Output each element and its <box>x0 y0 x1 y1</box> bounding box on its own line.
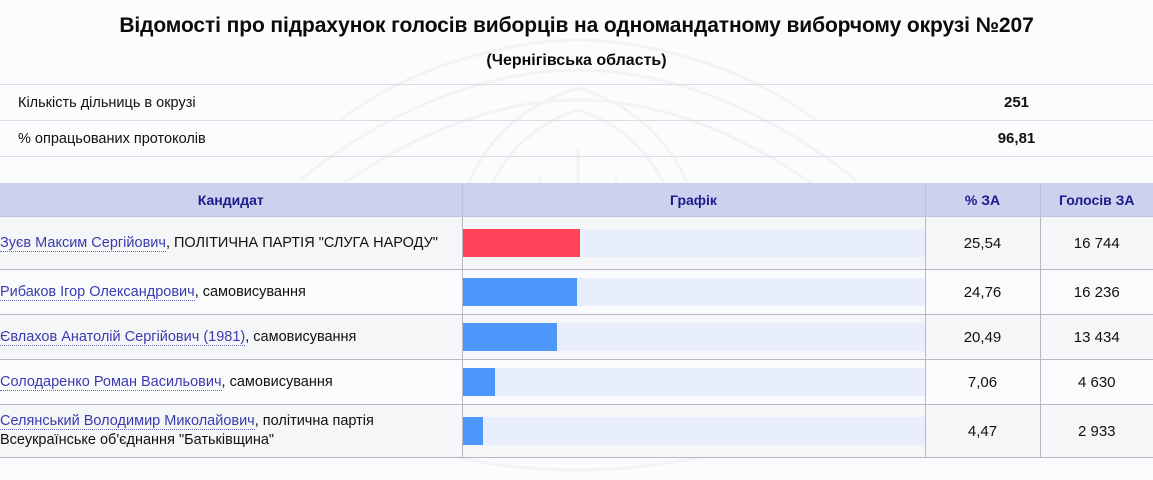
table-row: Рибаков Ігор Олександрович, самовисуванн… <box>0 270 1153 315</box>
bar-track <box>463 417 925 445</box>
bar-fill <box>463 417 484 445</box>
table-row: Зуєв Максим Сергійович, ПОЛІТИЧНА ПАРТІЯ… <box>0 217 1153 270</box>
chart-cell <box>462 217 925 270</box>
column-header-candidate[interactable]: Кандидат <box>0 183 462 217</box>
summary-row-districts: Кількість дільниць в окрузі 251 <box>0 85 1153 121</box>
percent-cell: 4,47 <box>925 405 1040 458</box>
percent-cell: 20,49 <box>925 315 1040 360</box>
results-header-row: Кандидат Графік % ЗА Голосів ЗА <box>0 183 1153 217</box>
candidate-cell: Солодаренко Роман Васильович, самовисува… <box>0 360 462 405</box>
candidate-link[interactable]: Солодаренко Роман Васильович <box>0 374 222 391</box>
summary-label-protocols: % опрацьованих протоколів <box>0 121 900 157</box>
votes-cell: 16 744 <box>1040 217 1153 270</box>
bar-fill <box>463 229 581 257</box>
candidate-link[interactable]: Селянський Володимир Миколайович <box>0 413 255 430</box>
percent-cell: 25,54 <box>925 217 1040 270</box>
candidate-cell: Селянський Володимир Миколайович, політи… <box>0 405 462 458</box>
table-row: Солодаренко Роман Васильович, самовисува… <box>0 360 1153 405</box>
section-spacer <box>0 157 1153 183</box>
table-row: Євлахов Анатолій Сергійович (1981), само… <box>0 315 1153 360</box>
candidate-affiliation: , ПОЛІТИЧНА ПАРТІЯ "СЛУГА НАРОДУ" <box>166 235 438 251</box>
bar-track <box>463 368 925 396</box>
column-header-percent[interactable]: % ЗА <box>925 183 1040 217</box>
results-table-body: Зуєв Максим Сергійович, ПОЛІТИЧНА ПАРТІЯ… <box>0 217 1153 458</box>
candidate-cell: Рибаков Ігор Олександрович, самовисуванн… <box>0 270 462 315</box>
summary-label-districts: Кількість дільниць в окрузі <box>0 85 900 121</box>
bar-track <box>463 323 925 351</box>
candidate-link[interactable]: Зуєв Максим Сергійович <box>0 235 166 252</box>
summary-table: Кількість дільниць в окрузі 251 % опраць… <box>0 84 1153 157</box>
chart-cell <box>462 405 925 458</box>
candidate-link[interactable]: Рибаков Ігор Олександрович <box>0 284 195 301</box>
candidate-affiliation: , самовисування <box>195 284 306 300</box>
column-header-votes[interactable]: Голосів ЗА <box>1040 183 1153 217</box>
results-page: Відомості про підрахунок голосів виборці… <box>0 0 1153 458</box>
votes-cell: 13 434 <box>1040 315 1153 360</box>
candidate-cell: Євлахов Анатолій Сергійович (1981), само… <box>0 315 462 360</box>
results-table-head: Кандидат Графік % ЗА Голосів ЗА <box>0 183 1153 217</box>
candidate-cell: Зуєв Максим Сергійович, ПОЛІТИЧНА ПАРТІЯ… <box>0 217 462 270</box>
chart-cell <box>462 315 925 360</box>
summary-value-protocols: 96,81 <box>900 121 1153 157</box>
table-row: Селянський Володимир Миколайович, політи… <box>0 405 1153 458</box>
votes-cell: 16 236 <box>1040 270 1153 315</box>
chart-cell <box>462 360 925 405</box>
votes-cell: 4 630 <box>1040 360 1153 405</box>
candidate-affiliation: , самовисування <box>222 374 333 390</box>
column-header-chart[interactable]: Графік <box>462 183 925 217</box>
bar-track <box>463 278 925 306</box>
percent-cell: 7,06 <box>925 360 1040 405</box>
bar-fill <box>463 323 558 351</box>
page-title: Відомості про підрахунок голосів виборці… <box>90 12 1063 40</box>
summary-value-districts: 251 <box>900 85 1153 121</box>
candidate-link[interactable]: Євлахов Анатолій Сергійович (1981) <box>0 329 245 346</box>
results-table: Кандидат Графік % ЗА Голосів ЗА Зуєв Мак… <box>0 183 1153 458</box>
bar-track <box>463 229 925 257</box>
votes-cell: 2 933 <box>1040 405 1153 458</box>
chart-cell <box>462 270 925 315</box>
bar-fill <box>463 368 496 396</box>
summary-row-protocols: % опрацьованих протоколів 96,81 <box>0 121 1153 157</box>
page-subtitle: (Чернігівська область) <box>90 52 1063 70</box>
bar-fill <box>463 278 577 306</box>
summary-body: Кількість дільниць в окрузі 251 % опраць… <box>0 85 1153 157</box>
percent-cell: 24,76 <box>925 270 1040 315</box>
candidate-affiliation: , самовисування <box>245 329 356 345</box>
title-block: Відомості про підрахунок голосів виборці… <box>0 0 1153 70</box>
